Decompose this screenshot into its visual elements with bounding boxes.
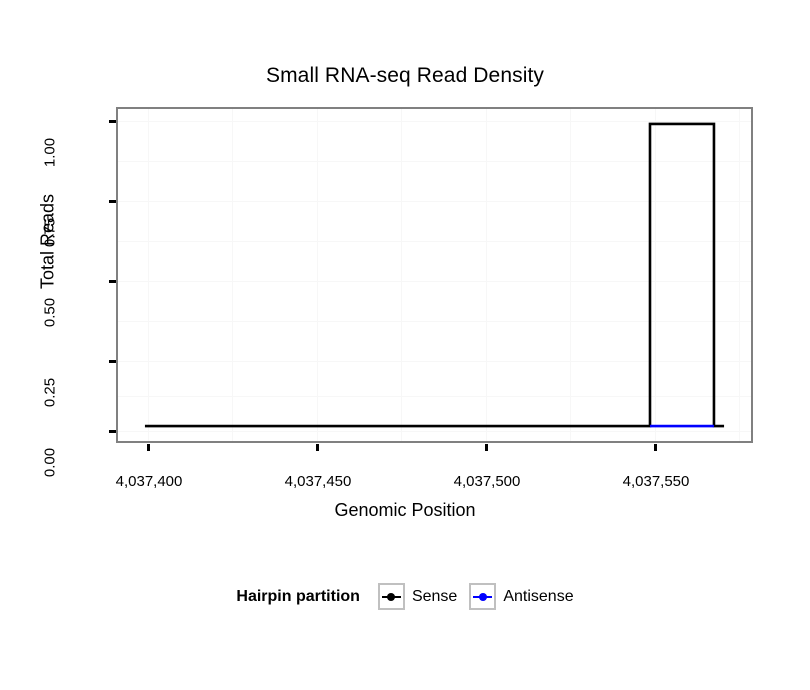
y-tick-mark <box>109 360 116 363</box>
legend: Hairpin partition Sense Antisense <box>0 583 810 610</box>
x-tick-mark <box>147 444 150 451</box>
x-axis-title: Genomic Position <box>0 500 810 521</box>
y-tick-mark <box>109 430 116 433</box>
legend-key-sense <box>378 583 405 610</box>
legend-entry-sense[interactable]: Sense <box>378 583 457 610</box>
y-tick-mark <box>109 200 116 203</box>
page-title: Small RNA-seq Read Density <box>0 64 810 88</box>
legend-key-antisense <box>469 583 496 610</box>
legend-entry-antisense[interactable]: Antisense <box>469 583 573 610</box>
x-tick-label: 4,037,450 <box>238 473 398 490</box>
legend-title: Hairpin partition <box>236 588 360 606</box>
y-tick-label: 1.00 <box>42 123 59 183</box>
series-line-sense <box>145 124 724 426</box>
x-tick-mark <box>654 444 657 451</box>
plot-area <box>118 109 751 441</box>
x-tick-label: 4,037,500 <box>407 473 567 490</box>
y-tick-mark <box>109 120 116 123</box>
x-tick-label: 4,037,550 <box>576 473 736 490</box>
legend-point-icon <box>387 593 395 601</box>
legend-label-sense: Sense <box>412 588 457 606</box>
legend-label-antisense: Antisense <box>503 588 573 606</box>
legend-point-icon <box>479 593 487 601</box>
data-series-layer <box>118 109 751 441</box>
x-tick-mark <box>316 444 319 451</box>
y-axis-title: Total Reads <box>38 182 59 302</box>
y-tick-label: 0.25 <box>42 363 59 423</box>
x-tick-label: 4,037,400 <box>69 473 229 490</box>
y-tick-mark <box>109 280 116 283</box>
plot-panel <box>116 107 753 443</box>
y-tick-label: 0.00 <box>42 433 59 493</box>
x-tick-mark <box>485 444 488 451</box>
